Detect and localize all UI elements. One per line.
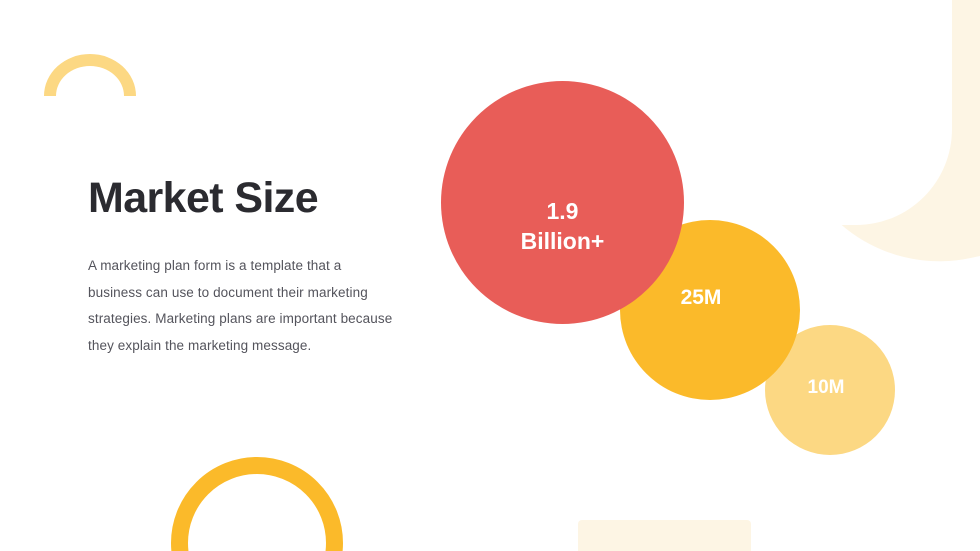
stat-bubble-secondary-label: 25M: [681, 285, 722, 311]
arc-stroke-top-left: [44, 54, 136, 96]
arc-stroke-bottom-left: [171, 457, 343, 551]
page-title: Market Size: [88, 176, 398, 221]
cream-rectangle-shape-bottom: [578, 520, 751, 551]
text-column: Market Size A marketing plan form is a t…: [88, 176, 398, 360]
half-ring-arc-icon-bottom-left: [171, 457, 343, 551]
body-paragraph: A marketing plan form is a template that…: [88, 221, 398, 359]
stat-bubble-primary-label: 1.9 Billion+: [521, 197, 605, 256]
half-ring-arc-icon-top-left: [44, 54, 136, 96]
white-rounded-mask-top-right: [652, 0, 952, 225]
stat-bubble-primary: 1.9 Billion+: [441, 81, 684, 324]
slide-canvas: Market Size A marketing plan form is a t…: [0, 0, 980, 551]
stat-bubble-tertiary-label: 10M: [808, 376, 845, 400]
